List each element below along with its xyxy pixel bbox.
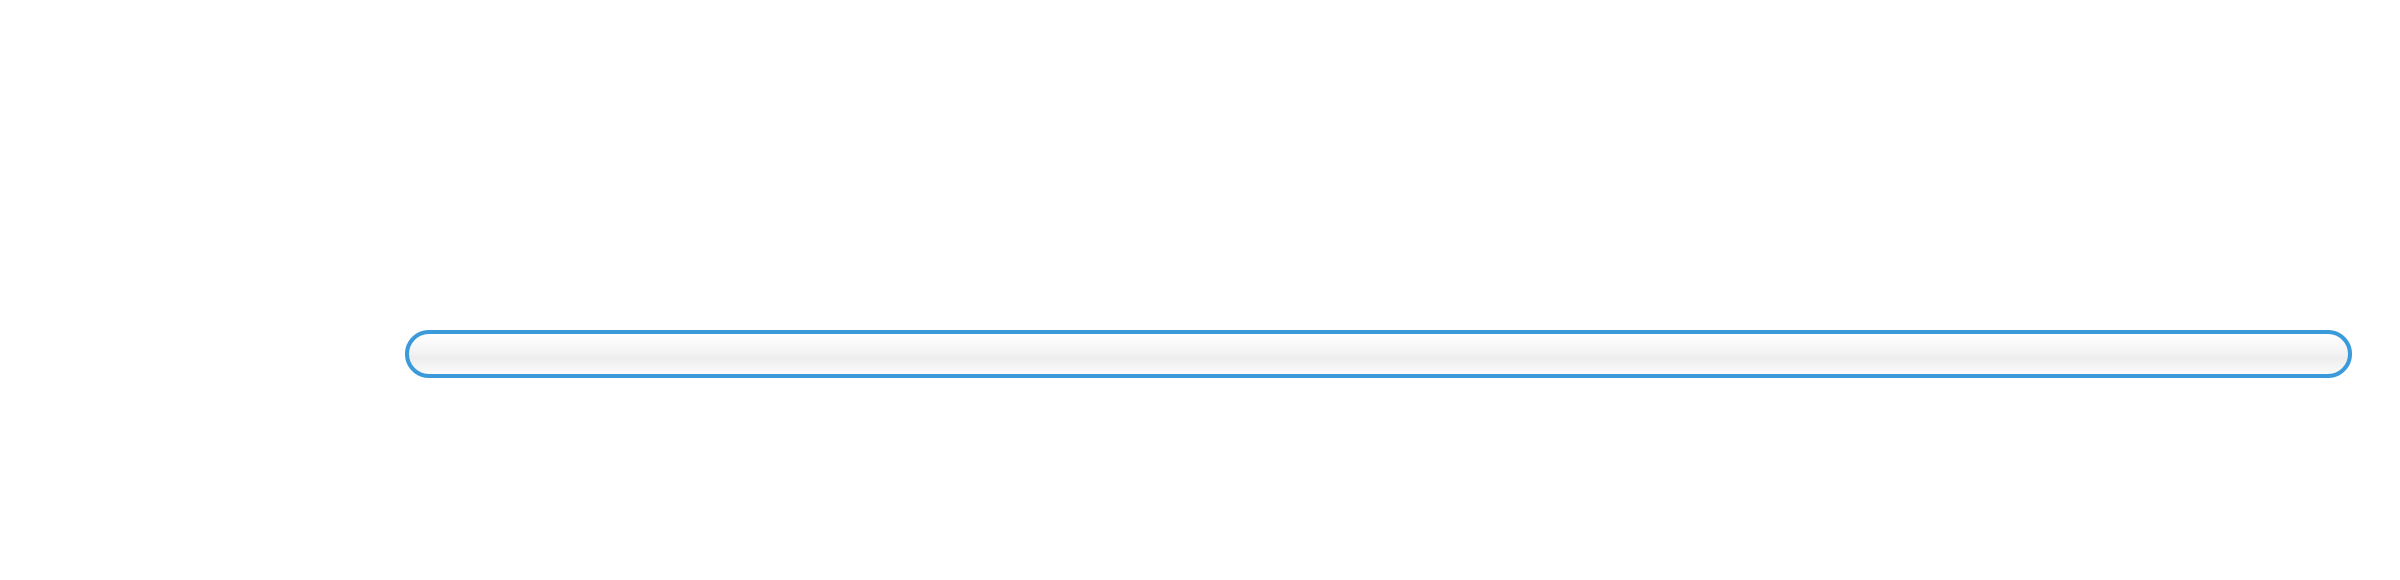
phylostratigraphy-timeline: [0, 0, 2400, 580]
species-header-row: [0, 0, 2400, 310]
phylostratum-progress-bar[interactable]: [405, 330, 2352, 378]
